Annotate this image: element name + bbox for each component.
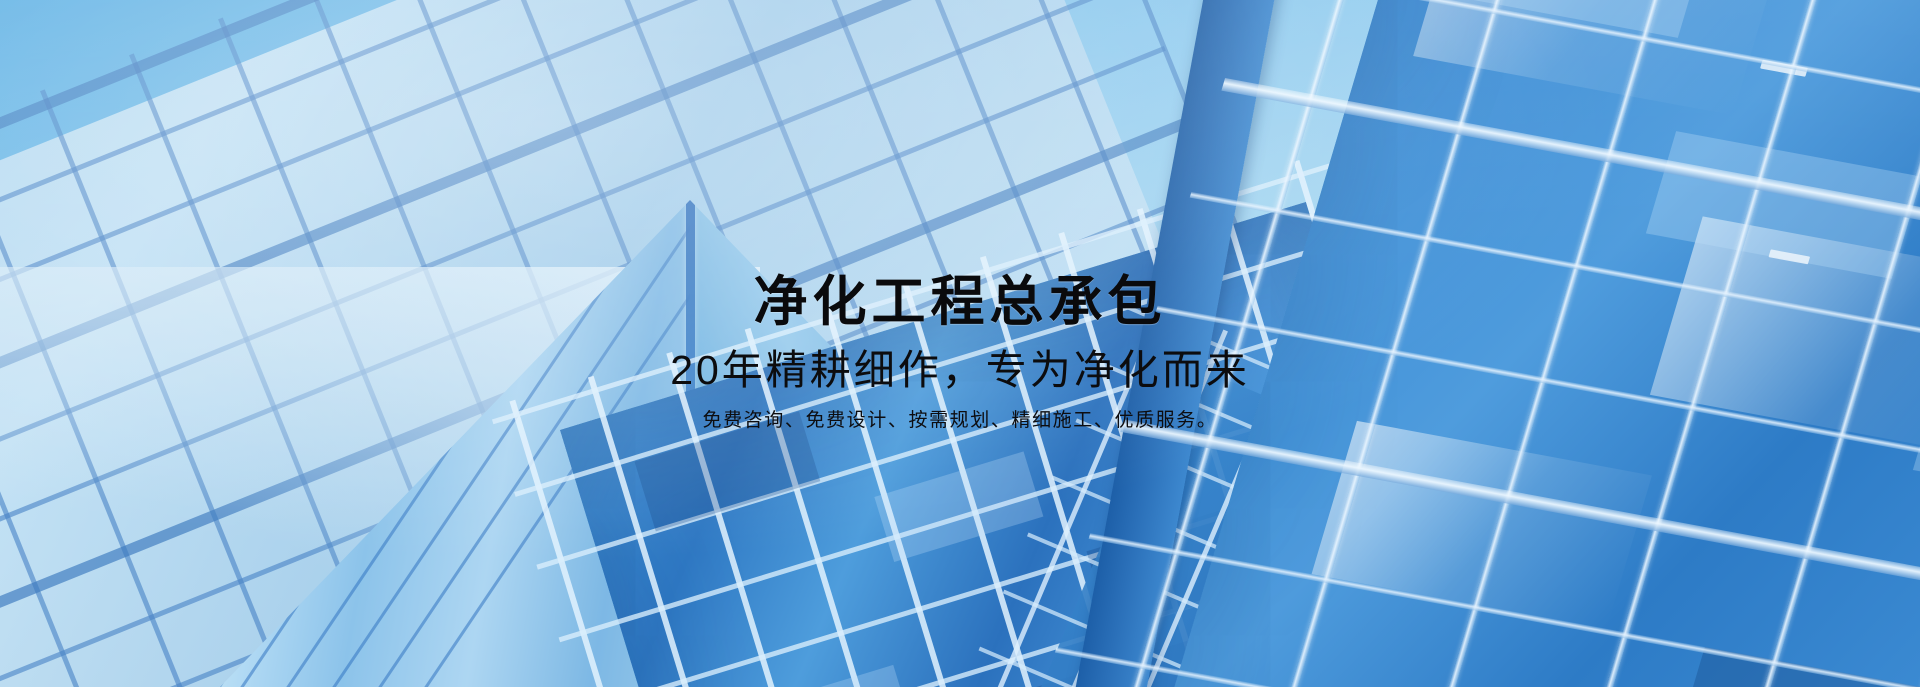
hero-banner: 净化工程总承包 20年精耕细作，专为净化而来 免费咨询、免费设计、按需规划、精细…	[0, 0, 1920, 687]
hero-caption: 免费咨询、免费设计、按需规划、精细施工、优质服务。	[0, 408, 1920, 435]
glass-pane	[759, 665, 915, 687]
hero-subline: 20年精耕细作，专为净化而来	[0, 344, 1920, 397]
hero-headline: 净化工程总承包	[0, 272, 1920, 332]
hero-copy: 净化工程总承包 20年精耕细作，专为净化而来 免费咨询、免费设计、按需规划、精细…	[0, 272, 1920, 434]
